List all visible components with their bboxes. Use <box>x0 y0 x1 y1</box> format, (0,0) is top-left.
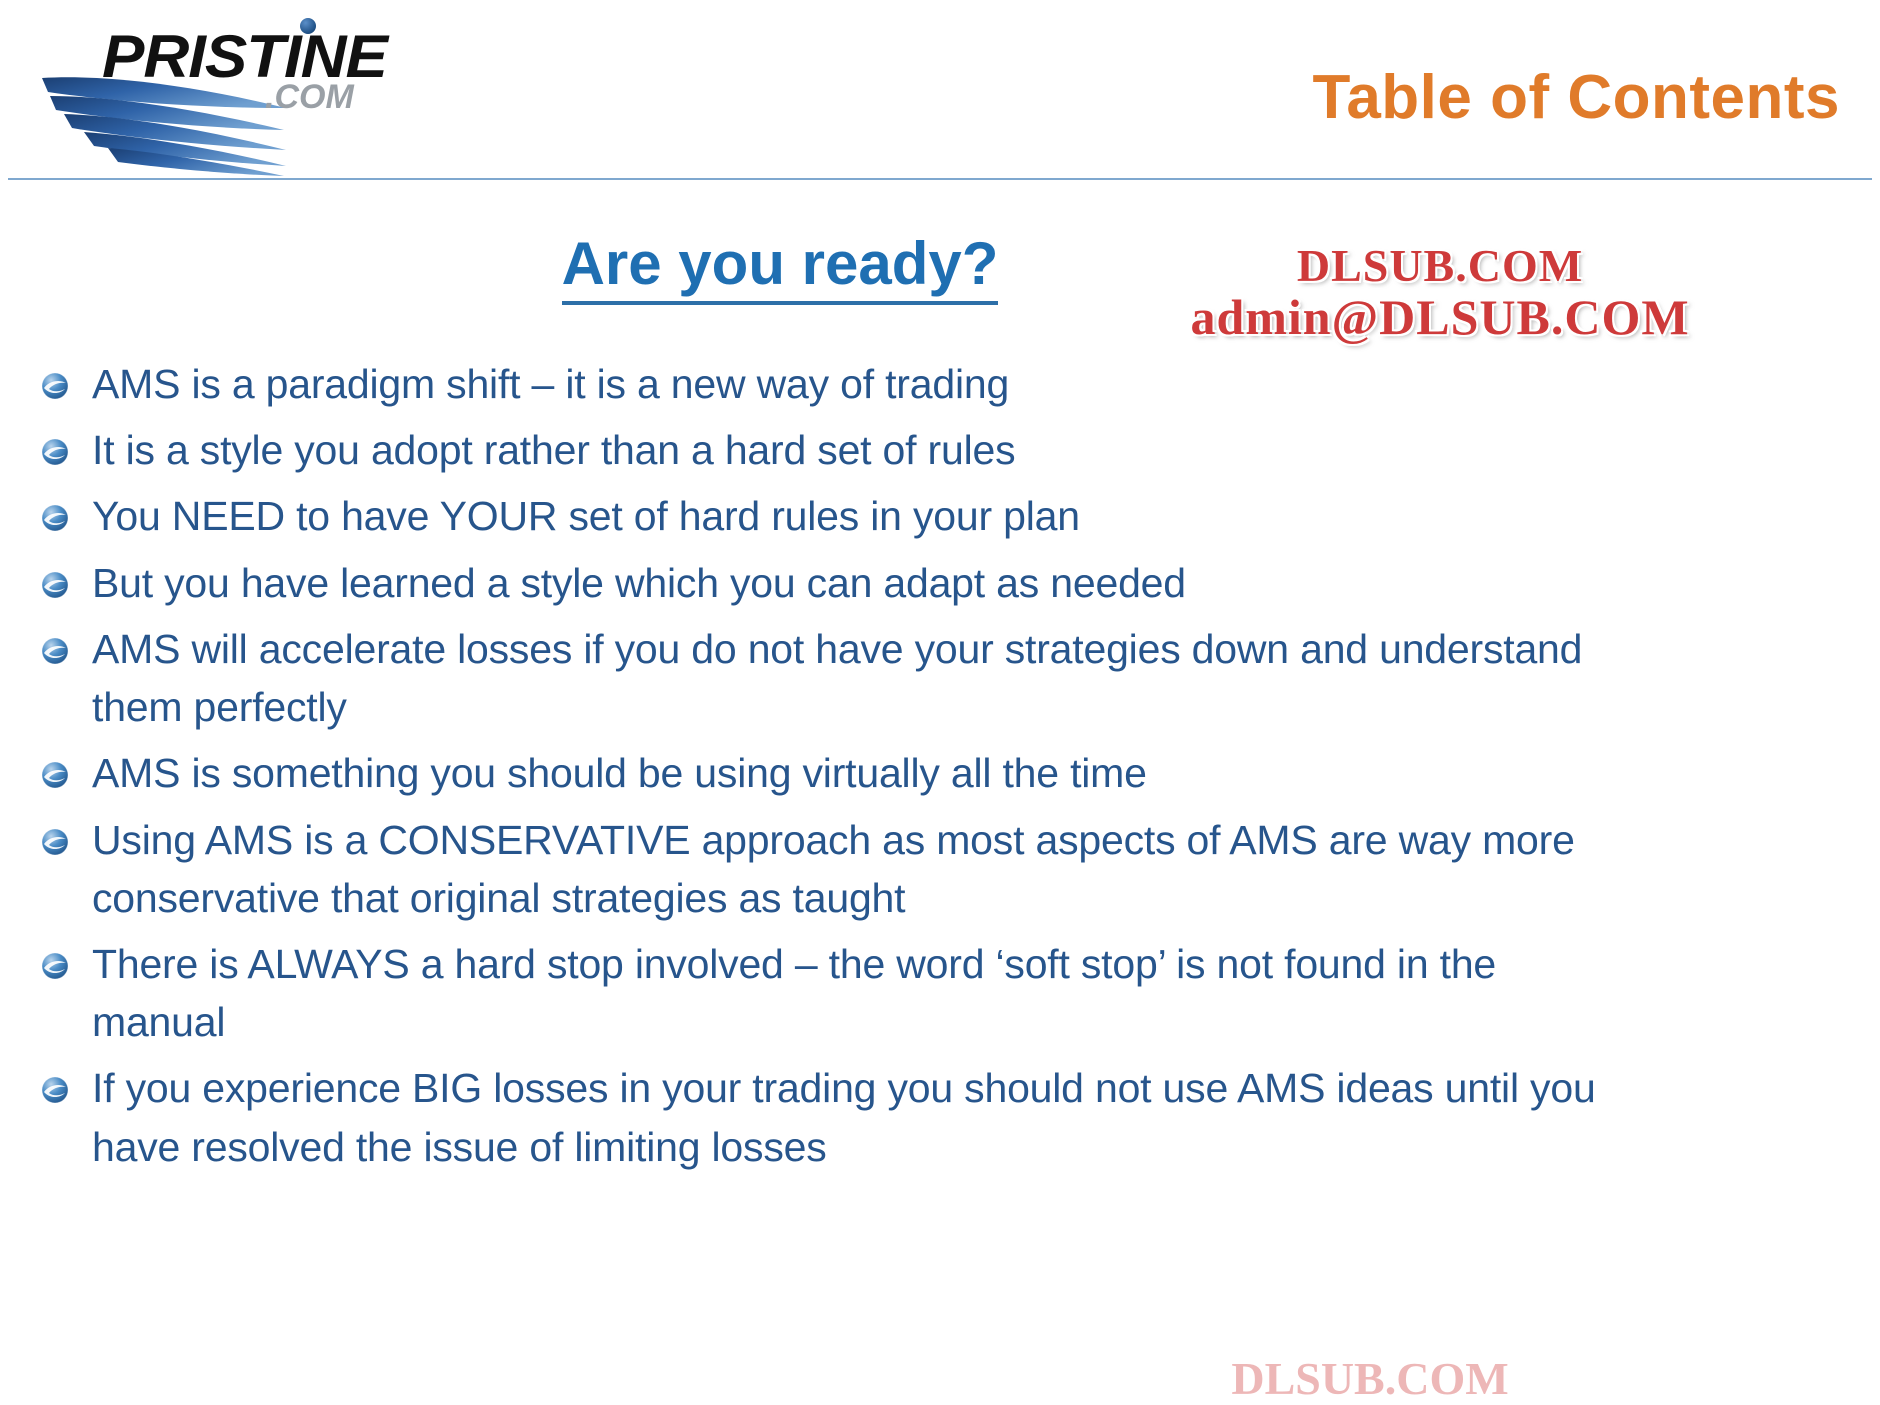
list-item: If you experience BIG losses in your tra… <box>40 1059 1600 1175</box>
list-item: But you have learned a style which you c… <box>40 554 1600 612</box>
blue-sphere-swirl-bullet-icon <box>40 760 70 790</box>
watermark-bottom-text: DLSUB.COM <box>1160 1352 1580 1405</box>
header-divider <box>8 178 1872 180</box>
list-item-label: You NEED to have YOUR set of hard rules … <box>92 487 1600 545</box>
logo-dot-icon <box>300 18 316 34</box>
list-item-label: AMS will accelerate losses if you do not… <box>92 620 1600 736</box>
blue-sphere-swirl-bullet-icon <box>40 570 70 600</box>
blue-sphere-swirl-bullet-icon <box>40 827 70 857</box>
page-title: Table of Contents <box>1313 62 1840 133</box>
slide-title-container: Are you ready? <box>0 232 1560 305</box>
blue-sphere-swirl-bullet-icon <box>40 437 70 467</box>
list-item: AMS is something you should be using vir… <box>40 744 1600 802</box>
slide-header: PRISTINE .COM Table of Contents <box>0 0 1880 208</box>
watermark-overlay-bottom: DLSUB.COM <box>1160 1352 1580 1405</box>
blue-sphere-swirl-bullet-icon <box>40 951 70 981</box>
slide-title: Are you ready? <box>562 232 999 305</box>
list-item-label: Using AMS is a CONSERVATIVE approach as … <box>92 811 1600 927</box>
list-item: Using AMS is a CONSERVATIVE approach as … <box>40 811 1600 927</box>
list-item-label: AMS is something you should be using vir… <box>92 744 1600 802</box>
list-item: AMS will accelerate losses if you do not… <box>40 620 1600 736</box>
list-item: There is ALWAYS a hard stop involved – t… <box>40 935 1600 1051</box>
list-item-label: It is a style you adopt rather than a ha… <box>92 421 1600 479</box>
list-item-label: There is ALWAYS a hard stop involved – t… <box>92 935 1600 1051</box>
blue-sphere-swirl-bullet-icon <box>40 1075 70 1105</box>
bullet-list: AMS is a paradigm shift – it is a new wa… <box>40 355 1600 1184</box>
logo-com-suffix: .COM <box>265 78 354 117</box>
blue-sphere-swirl-bullet-icon <box>40 503 70 533</box>
list-item: AMS is a paradigm shift – it is a new wa… <box>40 355 1600 413</box>
list-item-label: But you have learned a style which you c… <box>92 554 1600 612</box>
list-item-label: AMS is a paradigm shift – it is a new wa… <box>92 355 1600 413</box>
pristine-logo: PRISTINE .COM <box>30 8 430 178</box>
list-item: It is a style you adopt rather than a ha… <box>40 421 1600 479</box>
list-item: You NEED to have YOUR set of hard rules … <box>40 487 1600 545</box>
blue-sphere-swirl-bullet-icon <box>40 371 70 401</box>
list-item-label: If you experience BIG losses in your tra… <box>92 1059 1600 1175</box>
blue-sphere-swirl-bullet-icon <box>40 636 70 666</box>
